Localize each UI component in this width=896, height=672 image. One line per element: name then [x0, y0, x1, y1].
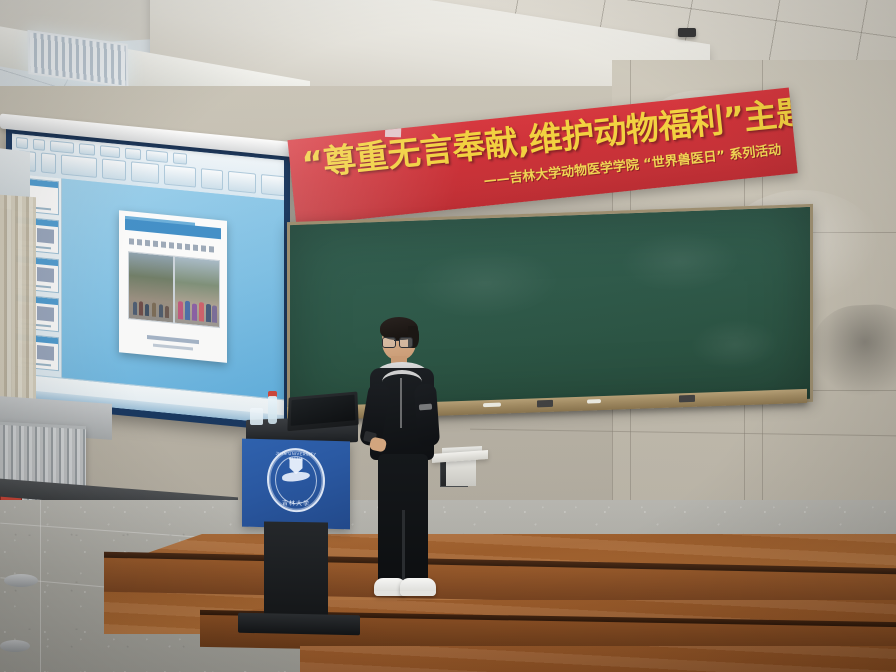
stage-wood-grain-step	[300, 646, 896, 672]
podium-front-panel: JILIN UNIVERSITY CHINA 吉林大学	[242, 439, 350, 530]
slide-subcaption-line	[153, 344, 193, 351]
podium: JILIN UNIVERSITY CHINA 吉林大学	[236, 418, 362, 632]
slide-photo-left	[128, 251, 174, 324]
podium-base	[238, 613, 360, 636]
stage-step-bottom	[300, 646, 896, 672]
slide-caption-line	[147, 335, 199, 344]
projection-screen-surface	[12, 134, 284, 425]
projection-screen-frame	[6, 126, 290, 432]
lecture-hall-photo: “尊重无言奉献,维护动物福利”主题报告 ——吉林大学动物医学学院 “世界兽医日”…	[0, 0, 896, 672]
university-emblem-icon: JILIN UNIVERSITY CHINA 吉林大学	[267, 447, 325, 513]
laptop[interactable]	[287, 391, 358, 431]
paper-cup	[250, 408, 263, 425]
floor-marker	[0, 640, 30, 652]
wall-speaker-icon	[678, 28, 696, 37]
speaker-jacket-zip	[400, 378, 402, 428]
laptop-screen	[291, 395, 356, 426]
emblem-chinese-text: 吉林大学	[269, 497, 323, 507]
slide-photo-right	[174, 256, 220, 329]
speaker-shoe-right	[400, 578, 436, 596]
speaker-arm-right	[414, 383, 440, 446]
floor-drain-cover	[4, 574, 38, 587]
podium-column	[264, 521, 328, 624]
slide-title-text	[129, 238, 217, 253]
speaker-person	[356, 320, 448, 612]
glasses-icon	[382, 337, 412, 346]
water-bottle	[268, 396, 277, 424]
slide-canvas[interactable]	[62, 178, 284, 400]
speaker-leg-separation	[402, 510, 405, 582]
current-slide	[119, 210, 227, 363]
sleeve-logo	[419, 404, 432, 411]
